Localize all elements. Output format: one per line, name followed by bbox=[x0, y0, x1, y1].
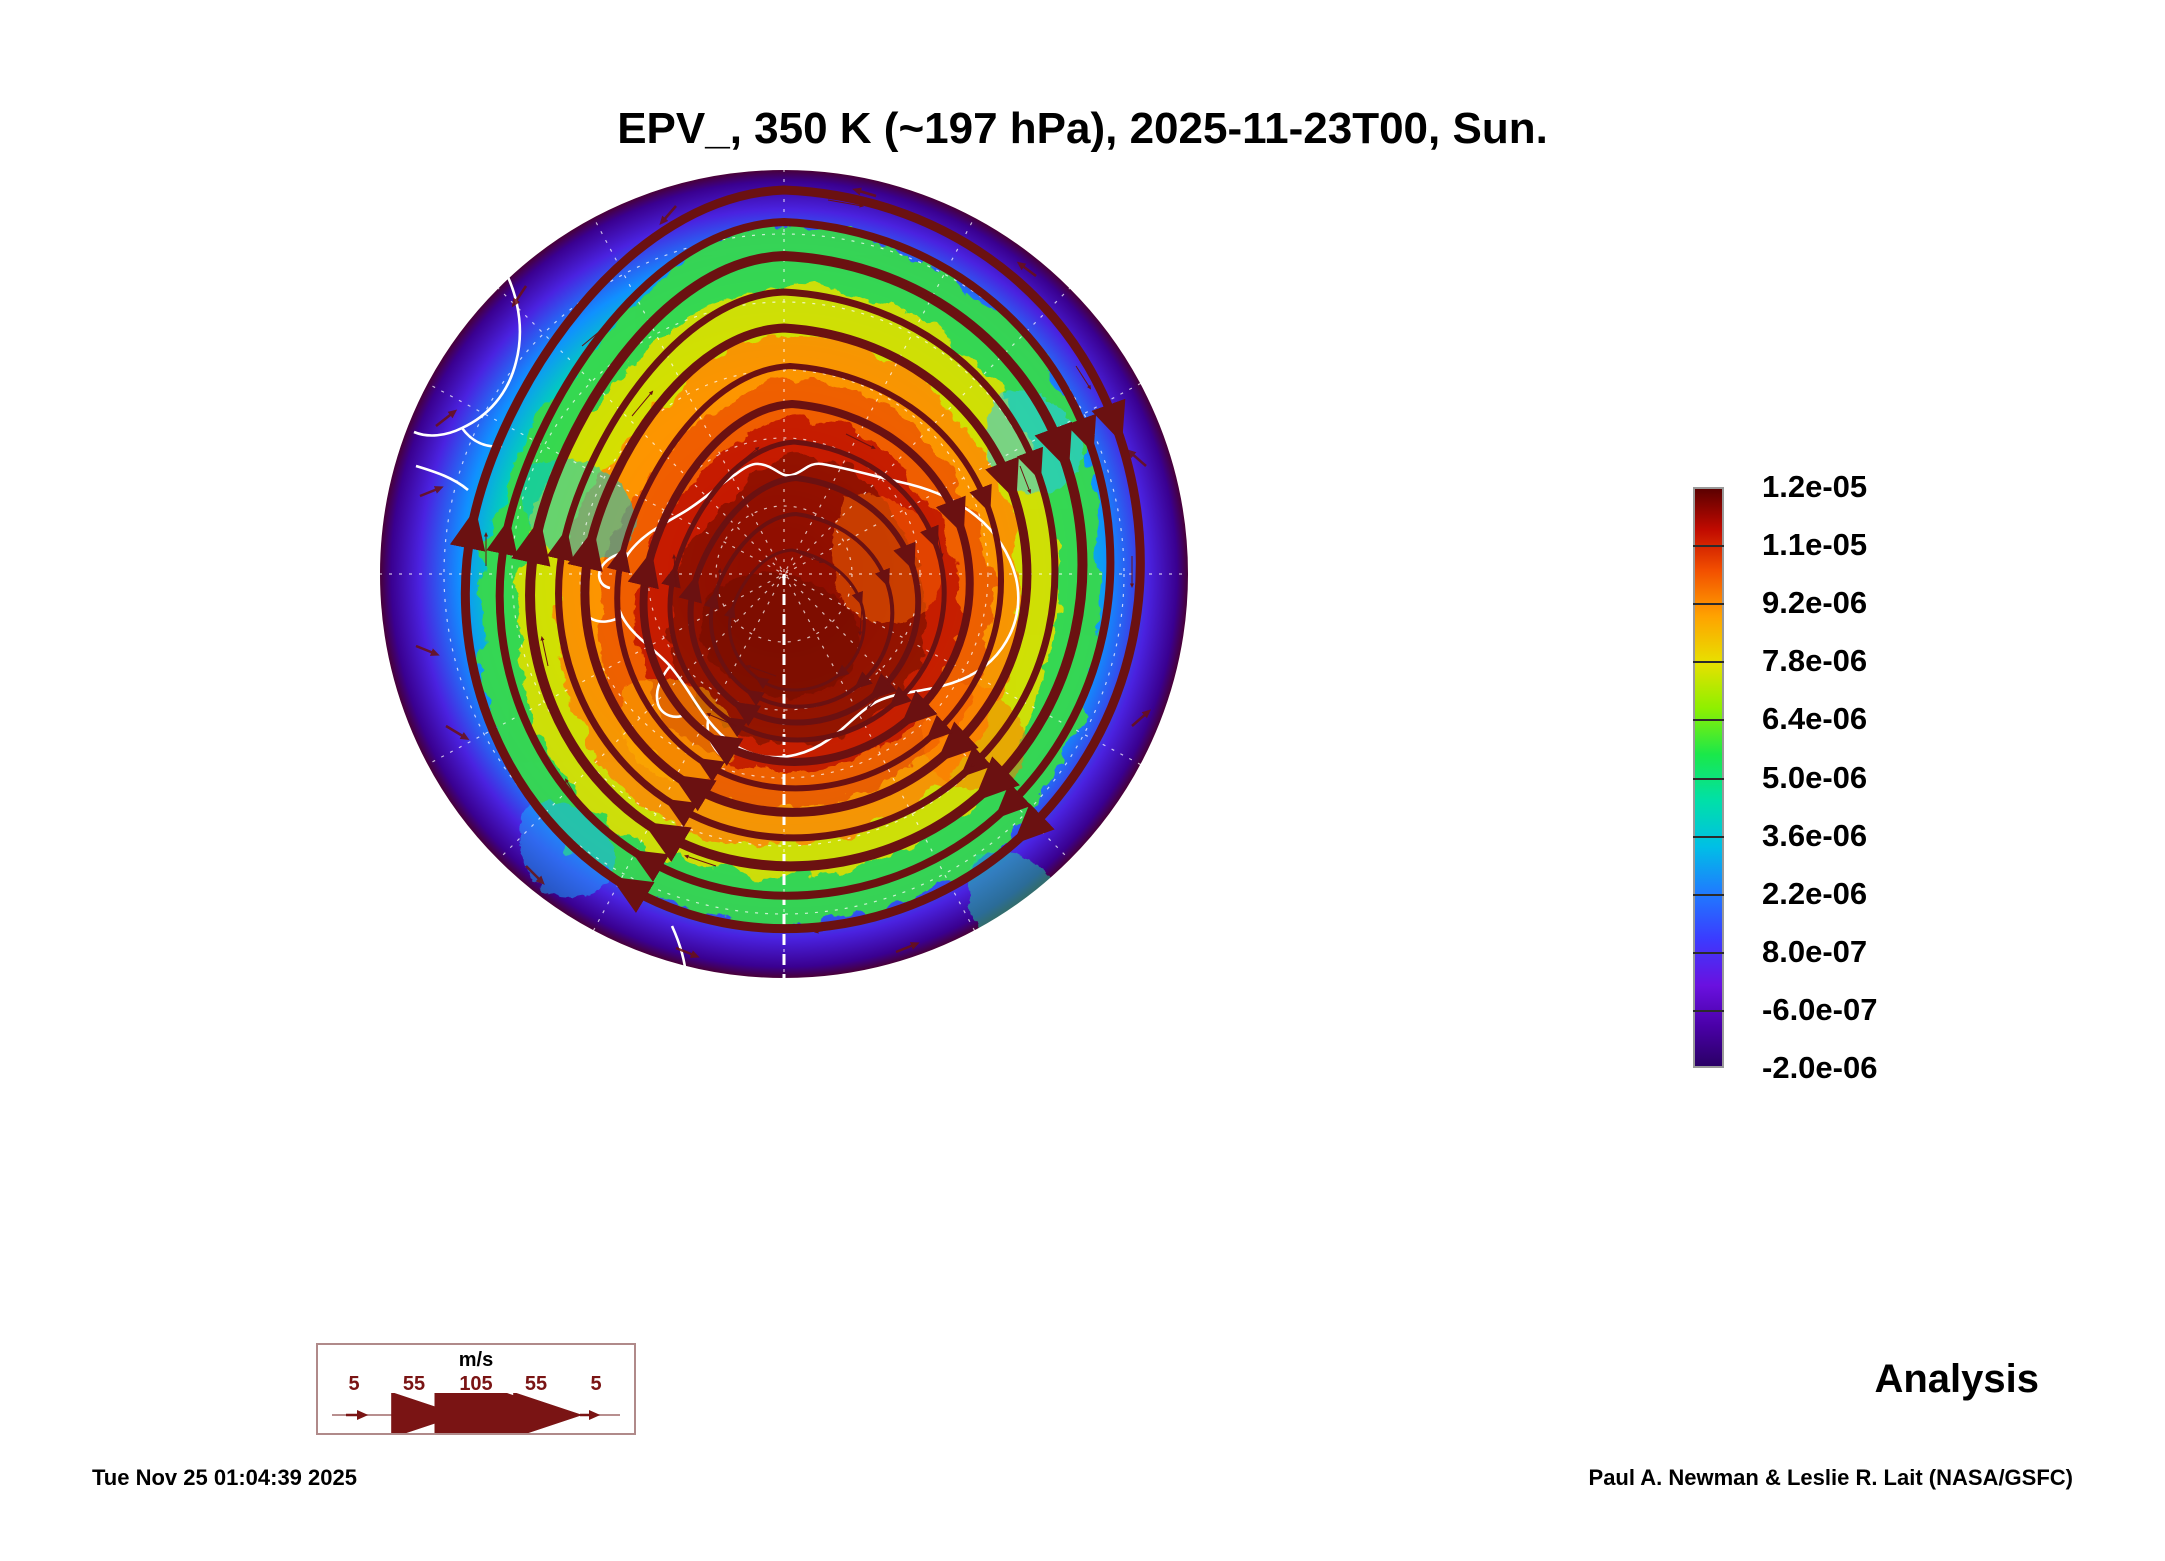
colorbar-tick-label: 9.2e-06 bbox=[1762, 585, 1867, 621]
colorbar-tick-label: 6.4e-06 bbox=[1762, 701, 1867, 737]
colorbar-tick bbox=[1693, 952, 1724, 954]
colorbar-tick bbox=[1693, 719, 1724, 721]
colorbar-tick bbox=[1693, 836, 1724, 838]
colorbar-tick-label: 8.0e-07 bbox=[1762, 934, 1867, 970]
page-title: EPV_, 350 K (~197 hPa), 2025-11-23T00, S… bbox=[0, 104, 2165, 154]
colorbar-tick-label: 5.0e-06 bbox=[1762, 760, 1867, 796]
colorbar-tick-label: 3.6e-06 bbox=[1762, 818, 1867, 854]
colorbar-tick-label: 7.8e-06 bbox=[1762, 643, 1867, 679]
figure-canvas: EPV_, 350 K (~197 hPa), 2025-11-23T00, S… bbox=[0, 0, 2165, 1561]
colorbar-tick-label: 1.2e-05 bbox=[1762, 469, 1867, 505]
colorbar-tick bbox=[1693, 1010, 1724, 1012]
colorbar-tick-label: 2.2e-06 bbox=[1762, 876, 1867, 912]
colorbar-tick-label: 1.1e-05 bbox=[1762, 527, 1867, 563]
colorbar-tick bbox=[1693, 603, 1724, 605]
colorbar-tick bbox=[1693, 545, 1724, 547]
analysis-label: Analysis bbox=[1874, 1357, 2039, 1402]
map-svg bbox=[376, 166, 1192, 982]
polar-stereographic-map[interactable] bbox=[376, 166, 1192, 982]
colorbar-tick-label: -6.0e-07 bbox=[1762, 992, 1877, 1028]
author-credit: Paul A. Newman & Leslie R. Lait (NASA/GS… bbox=[1589, 1465, 2073, 1491]
colorbar-tick bbox=[1693, 778, 1724, 780]
colorbar-tick bbox=[1693, 894, 1724, 896]
render-timestamp: Tue Nov 25 01:04:39 2025 bbox=[92, 1465, 357, 1491]
wind-arrow-scale bbox=[318, 1393, 634, 1433]
colorbar-tick bbox=[1693, 661, 1724, 663]
wind-speed-legend[interactable]: m/s 555105555 bbox=[316, 1343, 636, 1435]
wind-unit-label: m/s bbox=[318, 1349, 634, 1372]
colorbar-tick-label: -2.0e-06 bbox=[1762, 1050, 1877, 1086]
field-raster bbox=[379, 169, 1189, 982]
